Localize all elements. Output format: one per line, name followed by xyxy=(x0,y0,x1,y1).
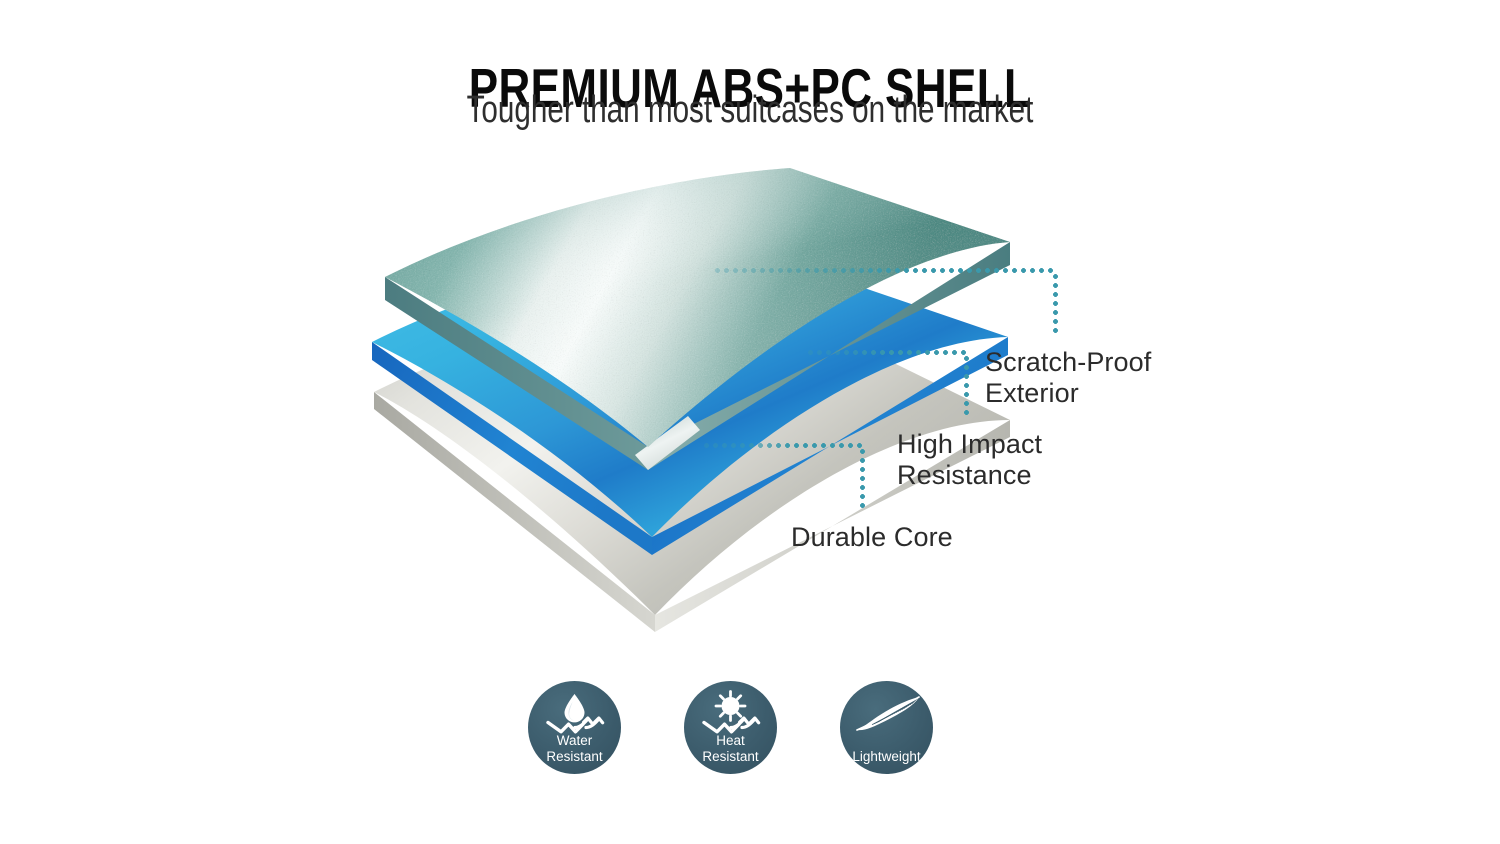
callout-scratch-proof-exterior: Scratch-Proof Exterior xyxy=(985,347,1151,409)
badge-water-resistant[interactable]: Water Resistant xyxy=(528,681,621,774)
badge-caption: Lightweight xyxy=(840,749,933,765)
leader-line-high-impact-vertical xyxy=(964,354,969,418)
leader-line-scratch-proof-horizontal xyxy=(713,268,1057,273)
badge-caption: Heat Resistant xyxy=(684,733,777,764)
infographic-root: PREMIUM ABS+PC SHELL Tougher than most s… xyxy=(0,0,1500,844)
badge-lightweight[interactable]: Lightweight xyxy=(840,681,933,774)
leader-line-scratch-proof-vertical xyxy=(1053,272,1058,336)
badge-heat-resistant[interactable]: Heat Resistant xyxy=(684,681,777,774)
callout-durable-core: Durable Core xyxy=(791,522,953,553)
feather-icon xyxy=(840,689,933,735)
leader-line-high-impact-horizontal xyxy=(806,350,968,355)
water-drop-repel-icon xyxy=(528,689,621,735)
sun-repel-icon xyxy=(684,689,777,735)
callout-high-impact-resistance: High Impact Resistance xyxy=(897,429,1042,491)
leader-line-durable-core-horizontal xyxy=(702,443,864,448)
badge-caption: Water Resistant xyxy=(528,733,621,764)
leader-line-durable-core-vertical xyxy=(860,447,865,511)
